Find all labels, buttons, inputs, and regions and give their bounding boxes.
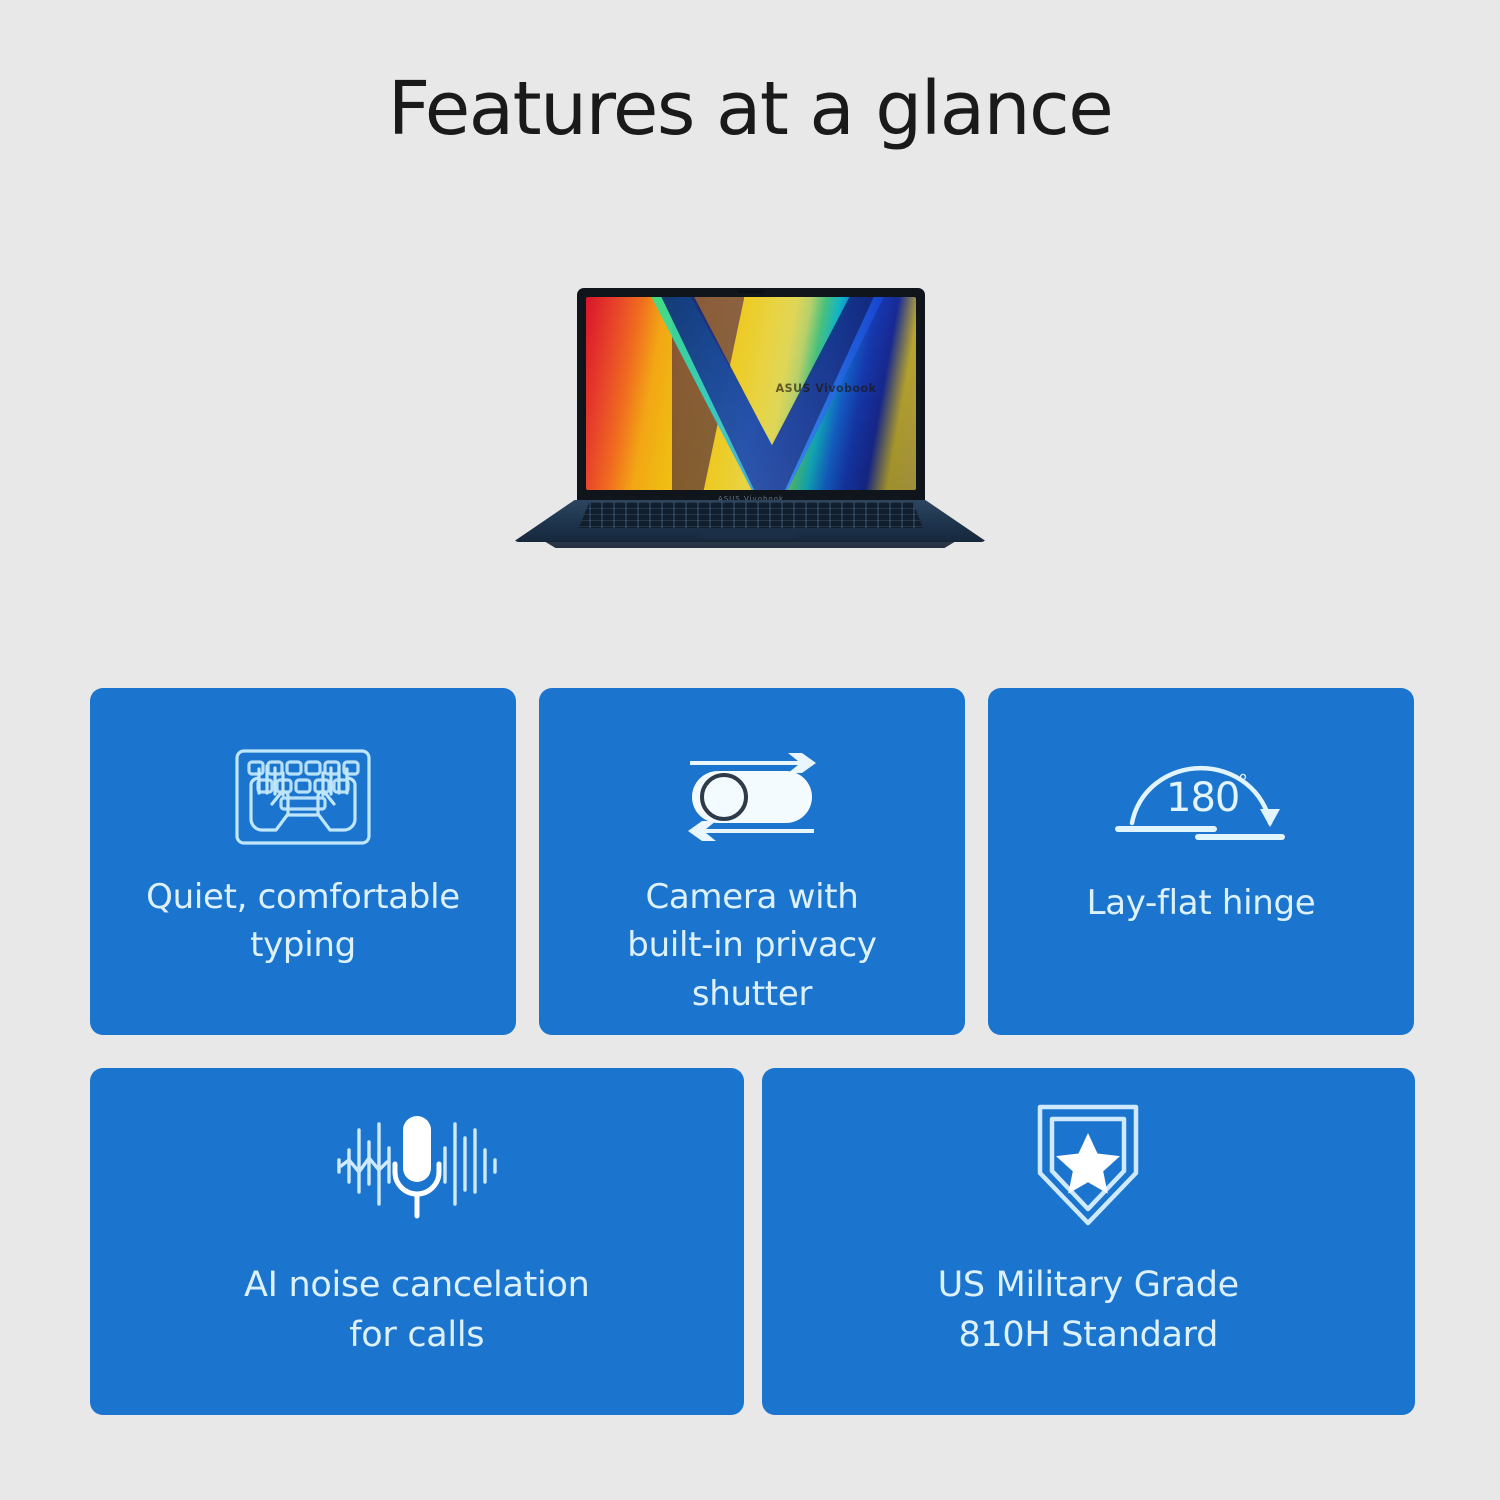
feature-grid: Quiet, comfortable typing Camera with bu… (90, 688, 1415, 1415)
feature-row-bottom: AI noise cancelation for calls US Milita… (90, 1068, 1415, 1415)
laptop-screen: ASUS Vivobook (586, 297, 916, 490)
microphone-waveform-icon (329, 1113, 505, 1221)
hinge-degree-symbol: ° (1238, 770, 1248, 794)
laptop-illustration: ASUS Vivobook ASUS Vivobook (505, 278, 995, 578)
feature-card-us-military-grade[interactable]: US Military Grade 810H Standard (762, 1068, 1416, 1415)
feature-card-label: US Military Grade 810H Standard (920, 1261, 1257, 1360)
shield-star-icon (1028, 1113, 1148, 1221)
feature-card-privacy-shutter[interactable]: Camera with built-in privacy shutter (539, 688, 965, 1035)
hero-product-image: ASUS Vivobook ASUS Vivobook (505, 278, 995, 578)
feature-card-label: Lay-flat hinge (1069, 879, 1334, 927)
page-title: Features at a glance (0, 72, 1500, 146)
laptop-keyboard-rows (579, 502, 923, 528)
feature-card-label: Quiet, comfortable typing (128, 873, 478, 970)
laptop-touchpad (702, 530, 798, 538)
feature-row-top: Quiet, comfortable typing Camera with bu… (90, 688, 1415, 1035)
feature-card-quiet-typing[interactable]: Quiet, comfortable typing (90, 688, 516, 1035)
feature-card-label: AI noise cancelation for calls (226, 1261, 607, 1360)
laptop-foot (529, 540, 971, 548)
screen-brand-logo: ASUS Vivobook (776, 382, 877, 396)
feature-card-lay-flat-hinge[interactable]: 180 ° Lay-flat hinge (988, 688, 1414, 1035)
webcam-notch (738, 290, 764, 293)
laptop-lid: ASUS Vivobook ASUS Vivobook (577, 288, 925, 506)
hinge-angle-value: 180 (1166, 775, 1239, 821)
camera-privacy-shutter-icon (676, 743, 828, 851)
keyboard-hands-icon (229, 743, 377, 851)
feature-card-ai-noise-cancelation[interactable]: AI noise cancelation for calls (90, 1068, 744, 1415)
hinge-180-degree-icon: 180 ° (1114, 743, 1288, 851)
feature-card-label: Camera with built-in privacy shutter (609, 873, 894, 1018)
